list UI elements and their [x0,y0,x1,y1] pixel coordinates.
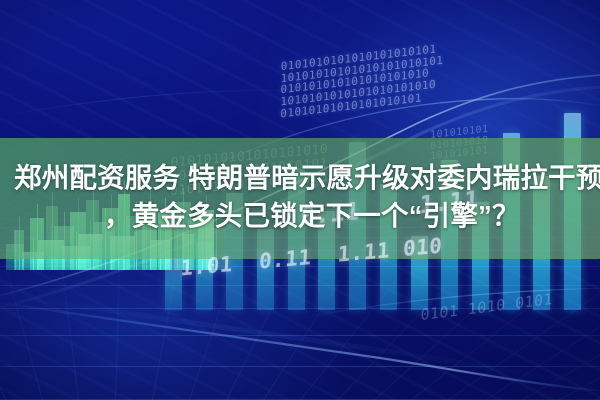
headline-line-1: 郑州配资服务 特朗普暗示愿升级对委内瑞拉干预 [14,159,586,197]
headline-block: 郑州配资服务 特朗普暗示愿升级对委内瑞拉干预 ，黄金多头已锁定下一个“引擎”？ [0,138,600,259]
news-banner: 0101010101010101010101 10101010101010101… [0,0,600,400]
headline-line-2: ，黄金多头已锁定下一个“引擎”？ [14,197,586,235]
